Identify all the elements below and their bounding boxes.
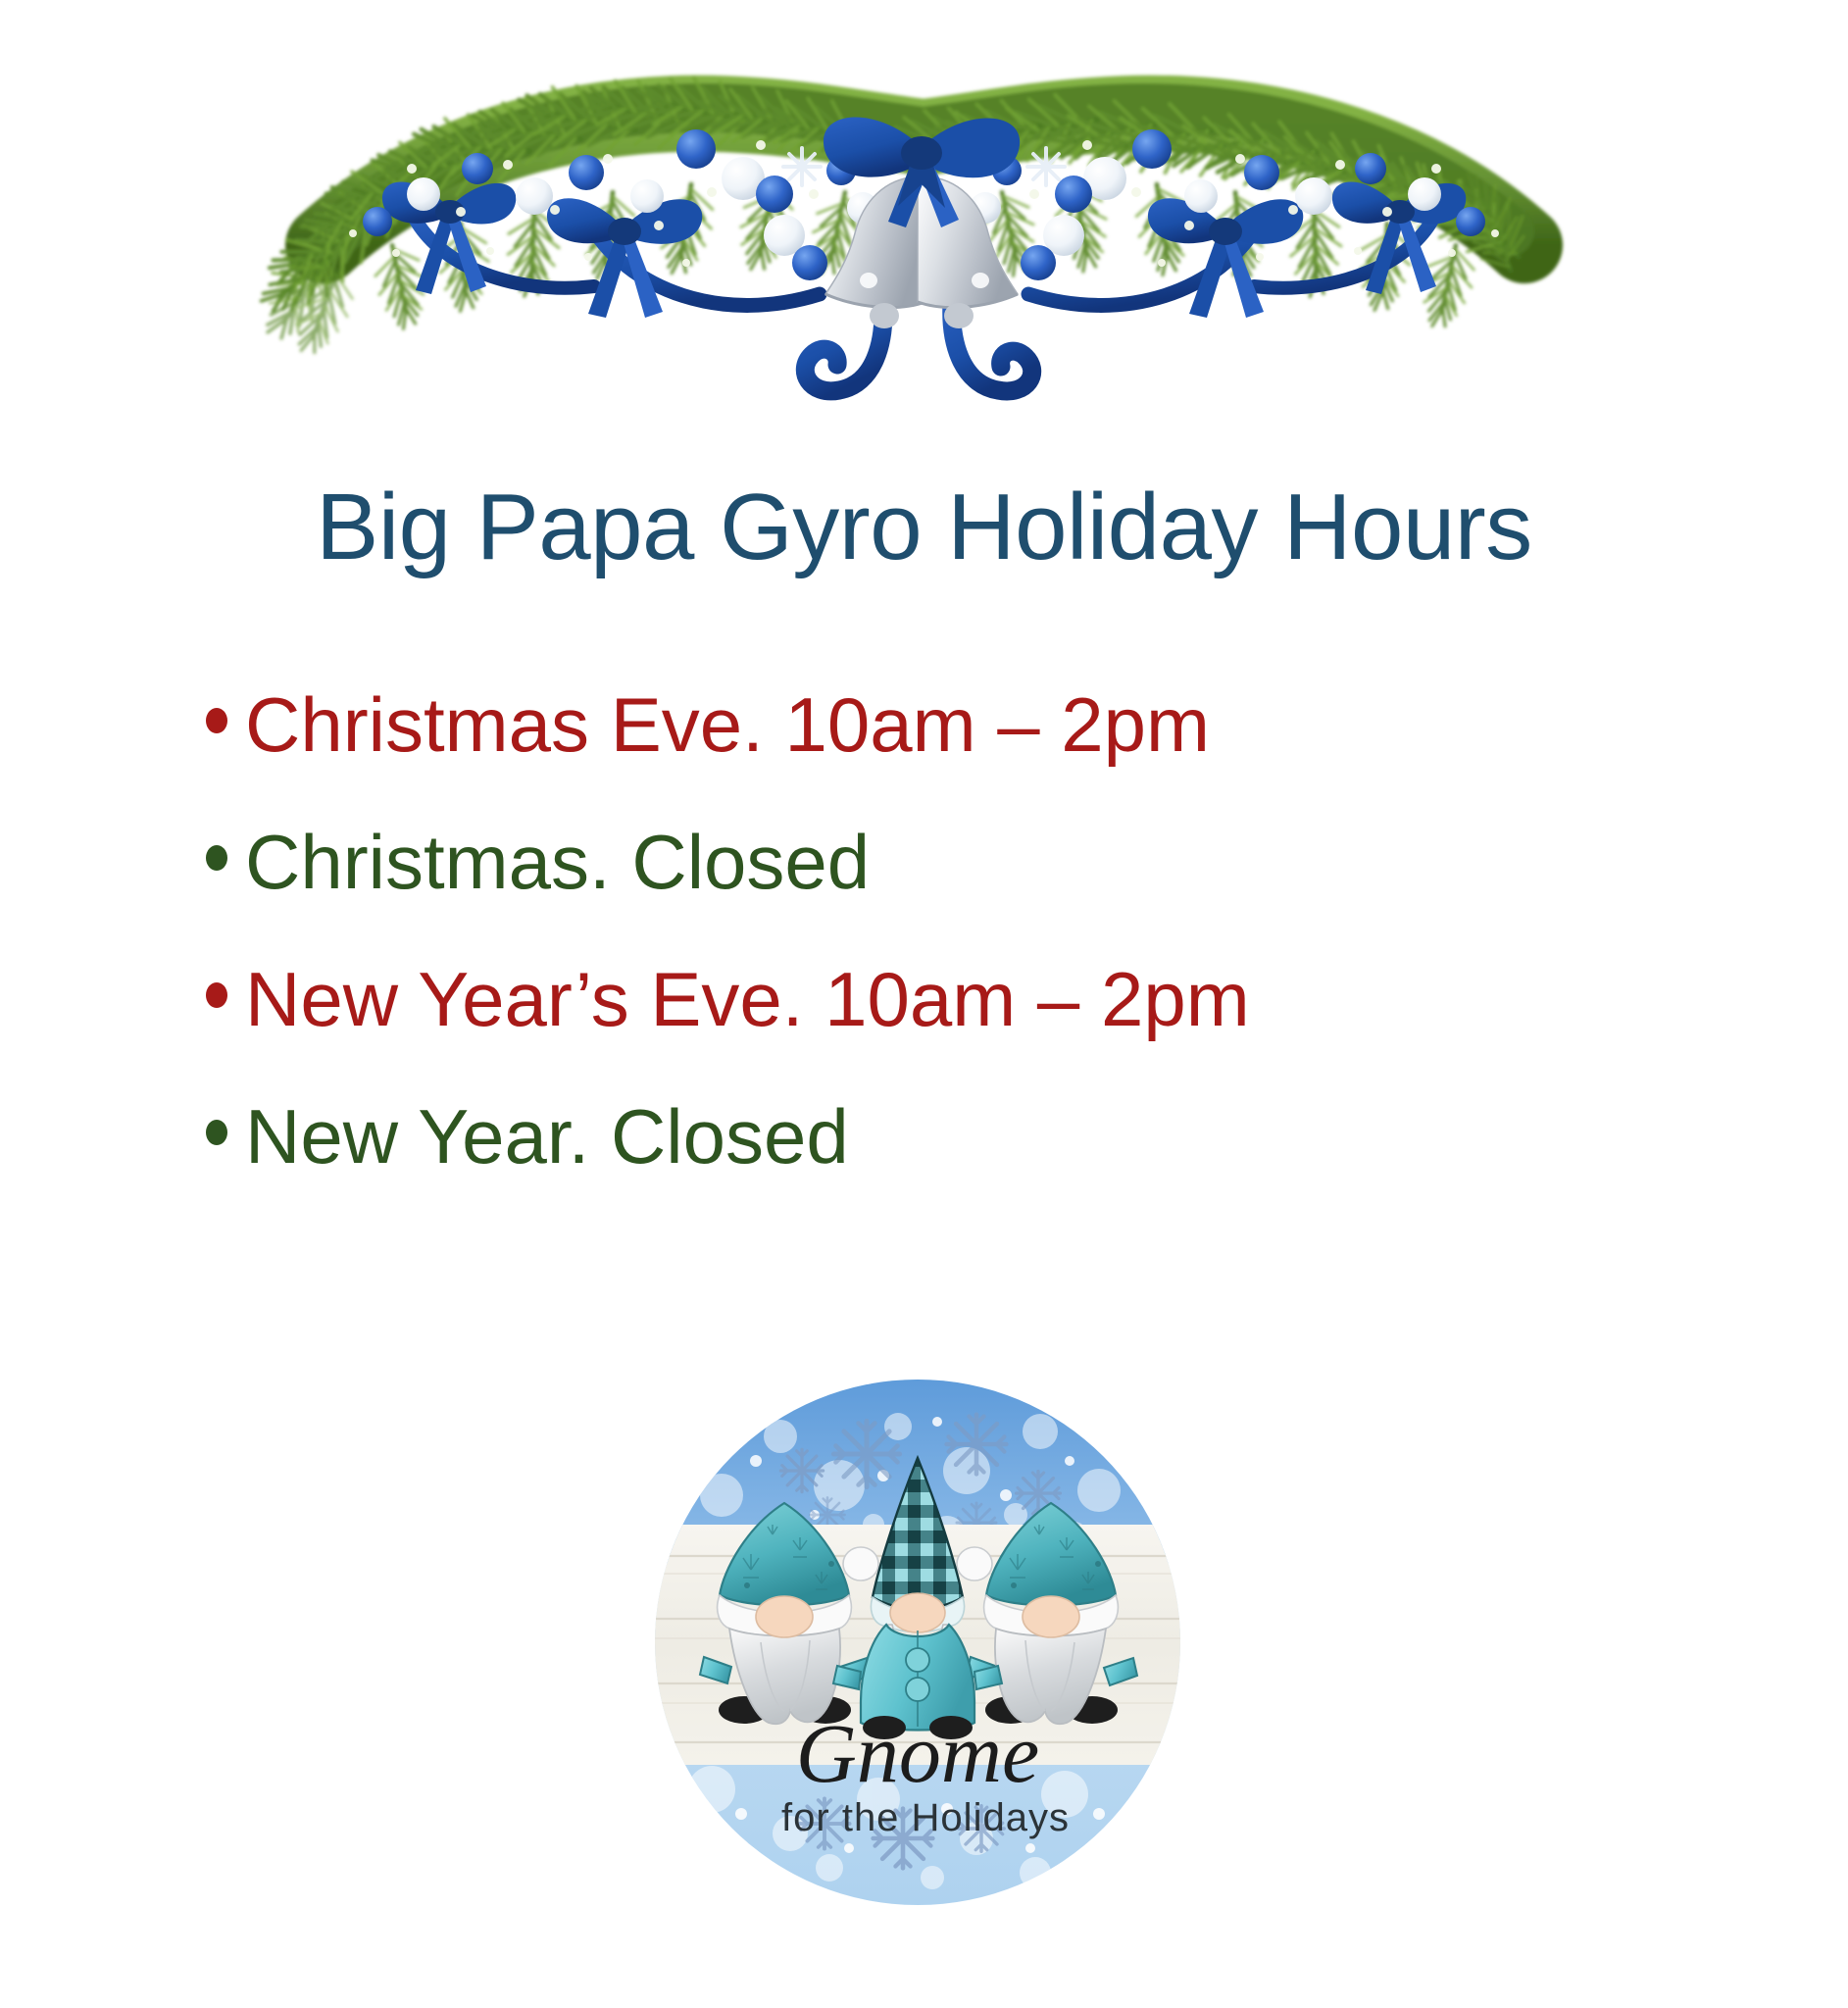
hours-label: New Year. Closed bbox=[245, 1098, 849, 1175]
gnome-script-text: Gnome bbox=[796, 1706, 1039, 1800]
list-item: Christmas. Closed bbox=[206, 824, 1676, 900]
hours-label: Christmas Eve. 10am – 2pm bbox=[245, 686, 1210, 763]
bullet-icon bbox=[206, 845, 227, 871]
list-item: Christmas Eve. 10am – 2pm bbox=[206, 686, 1676, 763]
bullet-icon bbox=[206, 982, 227, 1008]
gnome-sub-text: for the Holidays bbox=[781, 1796, 1070, 1839]
bullet-icon bbox=[206, 708, 227, 733]
hours-label: Christmas. Closed bbox=[245, 824, 870, 900]
list-item: New Year’s Eve. 10am – 2pm bbox=[206, 961, 1676, 1037]
list-item: New Year. Closed bbox=[206, 1098, 1676, 1175]
bullet-icon bbox=[206, 1120, 227, 1145]
ribbon-tail-left bbox=[805, 294, 883, 391]
header-garland-image bbox=[0, 0, 1848, 422]
garland-svg bbox=[0, 0, 1848, 422]
page-title: Big Papa Gyro Holiday Hours bbox=[0, 478, 1848, 577]
gnome-holiday-sign-image: Gnome for the Holidays bbox=[653, 1378, 1182, 1907]
holiday-hours-list: Christmas Eve. 10am – 2pm Christmas. Clo… bbox=[206, 686, 1676, 1235]
gnome-svg: Gnome for the Holidays bbox=[653, 1378, 1182, 1907]
hours-label: New Year’s Eve. 10am – 2pm bbox=[245, 961, 1250, 1037]
